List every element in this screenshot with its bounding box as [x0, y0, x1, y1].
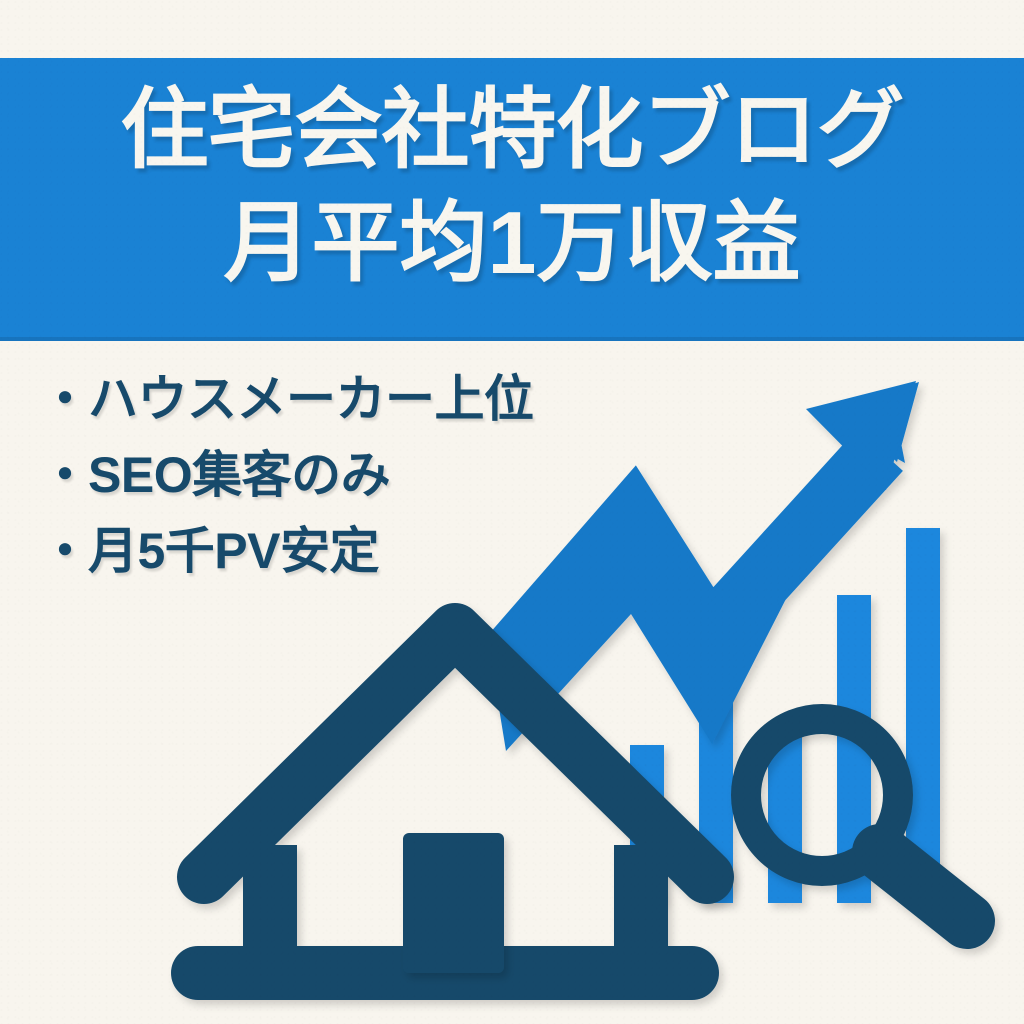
bullet-dot-icon: ・ — [40, 526, 90, 576]
list-item: ・ ハウスメーカー上位 — [40, 374, 534, 424]
bullet-label-3: 月5千PV安定 — [88, 526, 379, 576]
house-door — [403, 833, 504, 973]
bullet-label-1: ハウスメーカー上位 — [88, 374, 534, 424]
feature-bullet-list: ・ ハウスメーカー上位 ・ SEO集客のみ ・ 月5千PV安定 — [40, 374, 534, 602]
poster-canvas: 住宅会社特化ブログ 月平均1万収益 ・ ハウスメーカー上位 ・ SEO集客のみ … — [0, 0, 1024, 1024]
bullet-dot-icon: ・ — [40, 374, 90, 424]
bullet-dot-icon: ・ — [40, 450, 90, 500]
list-item: ・ SEO集客のみ — [40, 450, 534, 500]
list-item: ・ 月5千PV安定 — [40, 526, 534, 576]
bullet-label-2: SEO集客のみ — [88, 450, 390, 500]
